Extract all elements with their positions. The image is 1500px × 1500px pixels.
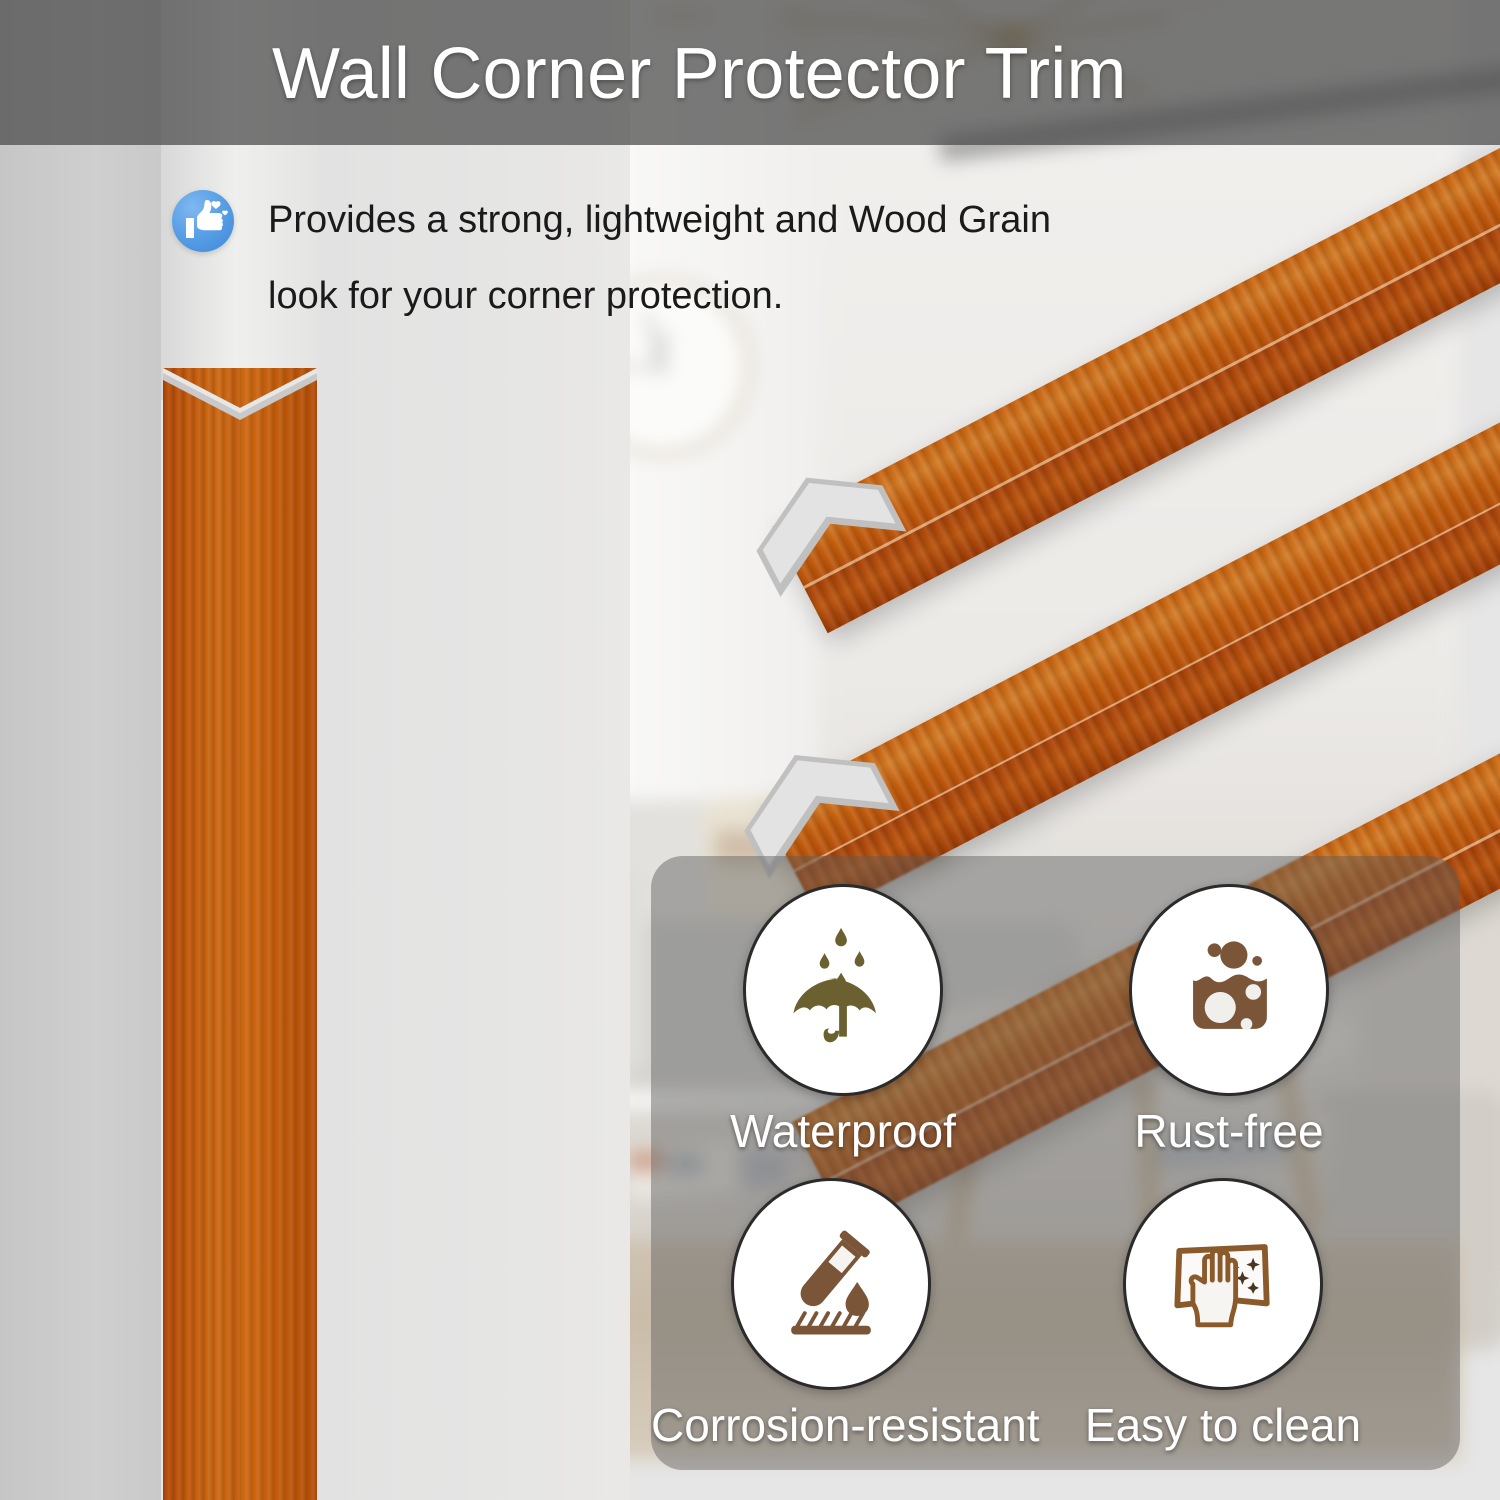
product-marketing-image: Wall Corner Protector Trim Provides a st… [0, 0, 1500, 1500]
trim-vertical-endcap [163, 368, 317, 420]
feature-label: Waterproof [663, 1102, 1023, 1160]
feature-label: Rust-free [1049, 1102, 1409, 1160]
feature-item-easy-to-clean: Easy to clean [1043, 1178, 1403, 1454]
description-line-1: Provides a strong, lightweight and Wood … [268, 199, 1051, 241]
feature-item-waterproof: Waterproof [663, 884, 1023, 1160]
feature-label: Easy to clean [1043, 1396, 1403, 1454]
left-wall-shadow-side [0, 0, 161, 1500]
umbrella-rain-icon [743, 884, 943, 1096]
feature-label: Corrosion-resistant [651, 1396, 1011, 1454]
hand-wipe-sparkle-icon [1123, 1178, 1323, 1390]
description-line-2: look for your corner protection. [268, 258, 1268, 334]
feature-grid: Waterproof Rust-free [651, 856, 1460, 1470]
feature-item-corrosion-resistant: Corrosion-resistant [651, 1178, 1011, 1454]
trim-face-right [240, 368, 317, 1500]
feature-item-rust-free: Rust-free [1049, 884, 1409, 1160]
thumbs-up-icon [172, 190, 234, 252]
page-title: Wall Corner Protector Trim [272, 26, 1127, 122]
product-description: Provides a strong, lightweight and Wood … [268, 182, 1268, 334]
trim-face-left [163, 368, 240, 1500]
wall-corner-trim-vertical [163, 368, 317, 1500]
bubbling-liquid-icon [1129, 884, 1329, 1096]
test-tube-droplet-icon [731, 1178, 931, 1390]
